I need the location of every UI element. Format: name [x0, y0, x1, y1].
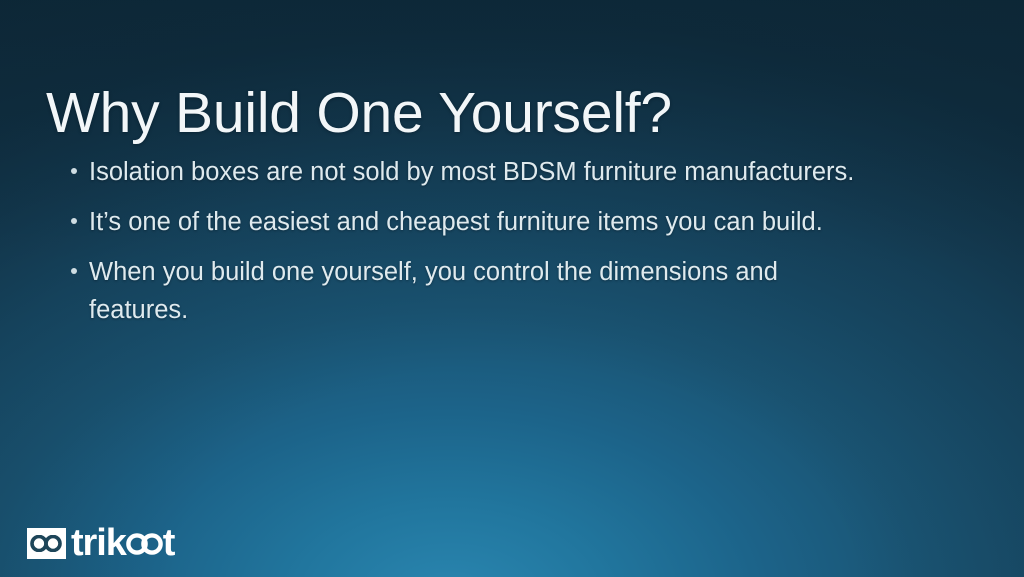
logo-double-o-glyph — [126, 533, 163, 555]
logo-wordmark: trik t — [71, 528, 174, 559]
bullet-text: Isolation boxes are not sold by most BDS… — [89, 158, 854, 186]
bullet-list: Isolation boxes are not sold by most BDS… — [70, 153, 860, 329]
bullet-item-1: Isolation boxes are not sold by most BDS… — [70, 153, 860, 191]
trikoot-logo: trik t — [27, 526, 174, 560]
bullet-dot-icon — [71, 168, 77, 174]
bullet-text: When you build one yourself, you control… — [89, 258, 778, 324]
bullet-text: It’s one of the easiest and cheapest fur… — [89, 208, 823, 236]
logo-word-after: t — [163, 528, 175, 559]
bullet-dot-icon — [71, 268, 77, 274]
slide-content: Why Build One Yourself? Isolation boxes … — [0, 0, 1024, 577]
slide-title: Why Build One Yourself? — [46, 82, 946, 145]
bullet-item-3: When you build one yourself, you control… — [70, 253, 860, 329]
double-ring-icon — [27, 528, 66, 559]
bullet-item-2: It’s one of the easiest and cheapest fur… — [70, 203, 860, 241]
logo-word-before: trik — [71, 528, 126, 559]
bullet-dot-icon — [71, 218, 77, 224]
slide: Why Build One Yourself? Isolation boxes … — [0, 0, 1024, 577]
